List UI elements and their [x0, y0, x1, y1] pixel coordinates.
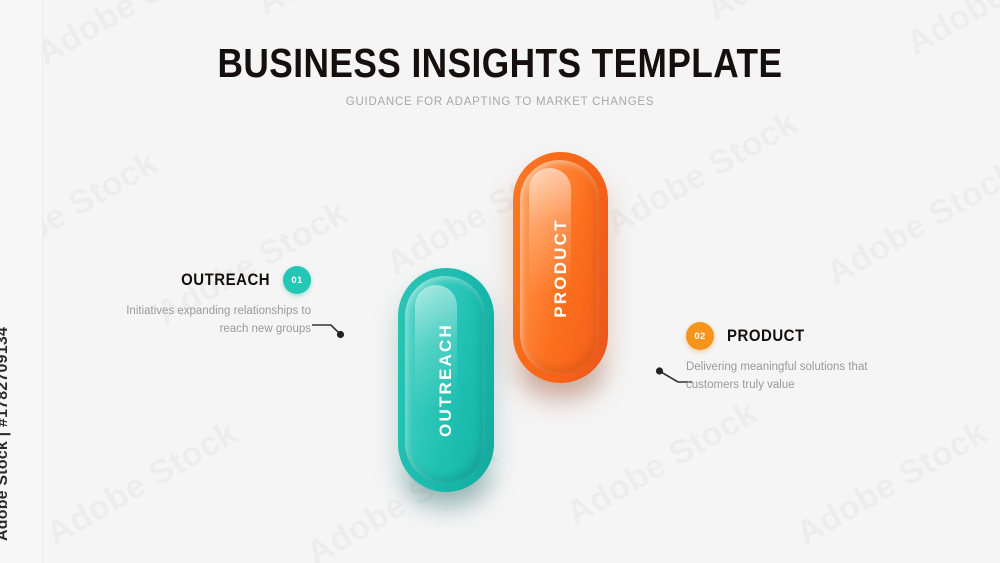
- info-block-title-outreach: OUTREACH: [181, 270, 270, 290]
- step-badge-02[interactable]: 02: [686, 322, 714, 350]
- capsule-outreach[interactable]: OUTREACH: [398, 268, 494, 492]
- watermark-tile: Adobe Stock: [40, 413, 244, 553]
- info-block-product: 02 PRODUCT Delivering meaningful solutio…: [686, 322, 911, 395]
- capsule-label-outreach: OUTREACH: [436, 323, 456, 437]
- step-badge-01[interactable]: 01: [283, 266, 311, 294]
- header: BUSINESS INSIGHTS TEMPLATE GUIDANCE FOR …: [0, 42, 1000, 108]
- info-block-header: OUTREACH 01: [96, 266, 311, 294]
- infographic-canvas: Adobe Stock Adobe Stock Adobe Stock Adob…: [0, 0, 1000, 563]
- watermark-tile: Adobe Stock: [560, 393, 764, 533]
- capsule-label-product: PRODUCT: [551, 218, 571, 317]
- connector-endpoint-dot: [656, 367, 663, 374]
- info-block-body-product: Delivering meaningful solutions that cus…: [686, 359, 911, 395]
- watermark-tile: Adobe Stock: [700, 0, 904, 29]
- watermark-tile: Adobe Stock: [790, 413, 994, 553]
- info-block-outreach: OUTREACH 01 Initiatives expanding relati…: [96, 266, 311, 339]
- capsule-product[interactable]: PRODUCT: [513, 152, 608, 383]
- info-block-header: 02 PRODUCT: [686, 322, 911, 350]
- connector-line-outreach: [306, 316, 352, 344]
- watermark-tile: Adobe Stock: [250, 0, 454, 24]
- connector-endpoint-dot: [337, 331, 344, 338]
- watermark-tile: Adobe Stock: [820, 153, 1000, 293]
- watermark-tile: Adobe Stock: [600, 103, 804, 243]
- info-block-title-product: PRODUCT: [727, 326, 805, 346]
- stock-credit-text: Adobe Stock | #1782709134: [0, 327, 12, 541]
- page-title: BUSINESS INSIGHTS TEMPLATE: [70, 42, 930, 85]
- page-subtitle: GUIDANCE FOR ADAPTING TO MARKET CHANGES: [0, 96, 1000, 108]
- info-block-body-outreach: Initiatives expanding relationships to r…: [96, 303, 311, 339]
- stock-credit-strip: Adobe Stock | #1782709134: [0, 0, 43, 563]
